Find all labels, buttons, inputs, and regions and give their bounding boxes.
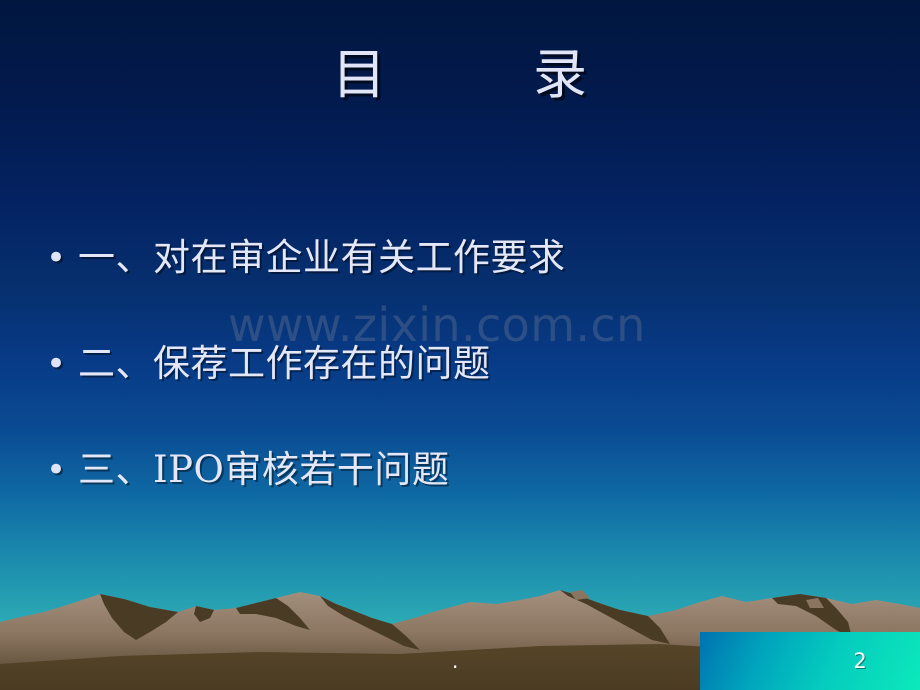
slide-number: 2 <box>846 648 874 674</box>
bullet-dot-icon: • <box>46 444 78 496</box>
list-item[interactable]: • 一、对在审企业有关工作要求 <box>46 232 866 338</box>
slide-title: 目 录 <box>0 44 920 106</box>
list-item[interactable]: • 三、IPO审核若干问题 <box>46 444 866 550</box>
list-item-label: 三、IPO审核若干问题 <box>78 444 449 496</box>
list-item[interactable]: • 二、保荐工作存在的问题 <box>46 338 866 444</box>
bullet-dot-icon: • <box>46 232 78 284</box>
contents-list: • 一、对在审企业有关工作要求 • 二、保荐工作存在的问题 • 三、IPO审核若… <box>46 232 866 550</box>
footer-placeholder-text: . <box>452 650 458 672</box>
bullet-dot-icon: • <box>46 338 78 390</box>
teal-accent-block <box>700 632 920 690</box>
slide-canvas: 目 录 www.zixin.com.cn • 一、对在审企业有关工作要求 • 二… <box>0 0 920 690</box>
list-item-label: 二、保荐工作存在的问题 <box>78 338 491 390</box>
list-item-label: 一、对在审企业有关工作要求 <box>78 232 566 284</box>
